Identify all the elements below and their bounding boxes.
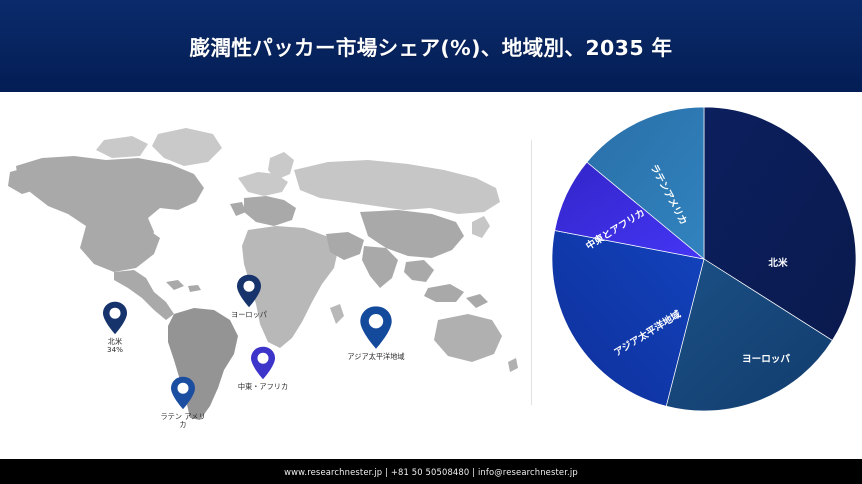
page-title: 膨潤性パッカー市場シェア(%)、地域別、2035 年 [190,31,673,61]
location-pin-icon [236,274,262,308]
map-marker-label: アジア太平洋地域 [347,353,404,361]
map-marker-label: 中東・アフリカ [238,383,288,391]
footer-contact-text: www.researchnester.jp | +81 50 50508480 … [284,467,578,477]
pie-label-europe: ヨーロッパ [742,353,790,365]
location-pin-icon [359,305,393,350]
pie-slices [552,107,856,411]
region-share-pie-chart[interactable]: 北米 ヨーロッパ アジア太平洋地域 中東とアフリカ ラテンアメリカ [544,104,862,424]
location-pin-icon [102,301,128,335]
map-marker-label: ヨーロッパ [231,311,267,319]
header-bar: 膨潤性パッカー市場シェア(%)、地域別、2035 年 [0,0,862,92]
map-marker-label: ラテン アメリカ [160,413,206,430]
map-marker-label: 北米 34% [107,338,123,355]
location-pin-icon [170,376,196,410]
location-pin-icon [250,346,276,380]
map-panel: 北米 34% ヨーロッパ アジア太平洋地域 [0,92,531,459]
slide-root: 膨潤性パッカー市場シェア(%)、地域別、2035 年 [0,0,862,484]
footer-bar: www.researchnester.jp | +81 50 50508480 … [0,459,862,484]
pie-chart-panel: 北米 ヨーロッパ アジア太平洋地域 中東とアフリカ ラテンアメリカ [531,92,862,459]
pie-label-north-america: 北米 [768,257,788,269]
content-area: 北米 34% ヨーロッパ アジア太平洋地域 [0,92,862,459]
